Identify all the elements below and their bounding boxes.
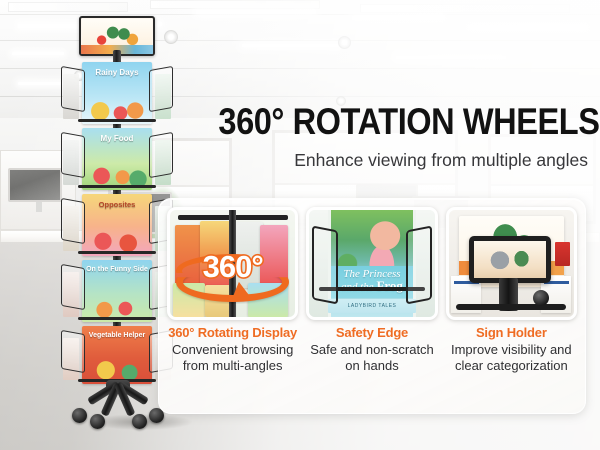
caster-wheel	[72, 408, 87, 423]
product-marketing-banner: Rainy Days My Food Opposites	[0, 0, 600, 450]
wire-crossbar	[78, 119, 156, 122]
feature-thumbnail: 360°	[167, 207, 298, 320]
feature-body: Safe and non-scratch on hands	[306, 340, 437, 374]
wire-basket-left	[61, 132, 85, 178]
sign-holder-photo	[449, 210, 574, 317]
rack-tier: Rainy Days	[60, 62, 174, 124]
rack-tier: On the Funny Side	[60, 260, 174, 322]
book-front: Vegetable Helper	[82, 326, 152, 384]
wire-basket-left	[61, 66, 85, 112]
feature-title: Safety Edge	[306, 325, 437, 340]
wire-basket-right	[149, 66, 173, 112]
page-subtitle: Enhance viewing from multiple angles	[168, 149, 588, 171]
caster-wheel	[132, 414, 147, 429]
feature-body: Convenient browsing from multi-angles	[167, 340, 298, 374]
feature-title: 360° Rotating Display	[167, 325, 298, 340]
feature-panel: 360° 360° Rotating Display Convenient br…	[158, 198, 586, 414]
book-publisher: LADYBIRD TALES	[328, 299, 416, 313]
book-front: My Food	[82, 128, 152, 190]
feature-card-rotating-display[interactable]: 360° 360° Rotating Display Convenient br…	[167, 207, 298, 407]
feature-caption: 360° Rotating Display Convenient browsin…	[167, 320, 298, 374]
wire-basket-left	[312, 225, 338, 304]
feature-caption: Safety Edge Safe and non-scratch on hand…	[306, 320, 437, 374]
feature-thumbnail	[446, 207, 577, 320]
sign-holder-frame	[469, 236, 552, 283]
feature-body: Improve visibility and clear categorizat…	[446, 340, 577, 374]
rack-base	[66, 380, 170, 426]
wire-crossbar	[78, 317, 156, 320]
feature-caption: Sign Holder Improve visibility and clear…	[446, 320, 577, 374]
wire-basket-left	[61, 330, 85, 374]
red-book-tab	[555, 242, 570, 266]
sign-holder-arm	[456, 304, 566, 310]
wire-crossbar	[78, 185, 156, 188]
book-front: On the Funny Side	[82, 260, 152, 322]
feature-card-list: 360° 360° Rotating Display Convenient br…	[167, 207, 577, 407]
wire-basket-left	[61, 264, 85, 310]
badge-360: 360°	[170, 251, 295, 282]
caster-wheel	[90, 414, 105, 429]
rotating-carousel-photo: 360°	[170, 210, 295, 317]
book-front: Rainy Days	[82, 62, 152, 124]
feature-card-safety-edge[interactable]: The Princess and the Frog LADYBIRD TALES…	[306, 207, 437, 407]
feature-card-sign-holder[interactable]: Sign Holder Improve visibility and clear…	[446, 207, 577, 407]
rack-tier: Vegetable Helper	[60, 326, 174, 384]
rack-tier: My Food	[60, 128, 174, 190]
rack-tier: Opposites	[60, 194, 174, 256]
wire-basket-left	[61, 198, 85, 244]
wire-pocket-book-photo: The Princess and the Frog LADYBIRD TALES	[309, 210, 434, 317]
wire-crossbar	[78, 251, 156, 254]
wire-basket-right	[406, 225, 432, 304]
feature-thumbnail: The Princess and the Frog LADYBIRD TALES	[306, 207, 437, 320]
book-front: Opposites	[82, 194, 152, 256]
page-title: 360° ROTATION WHEELS	[218, 102, 588, 142]
feature-title: Sign Holder	[446, 325, 577, 340]
